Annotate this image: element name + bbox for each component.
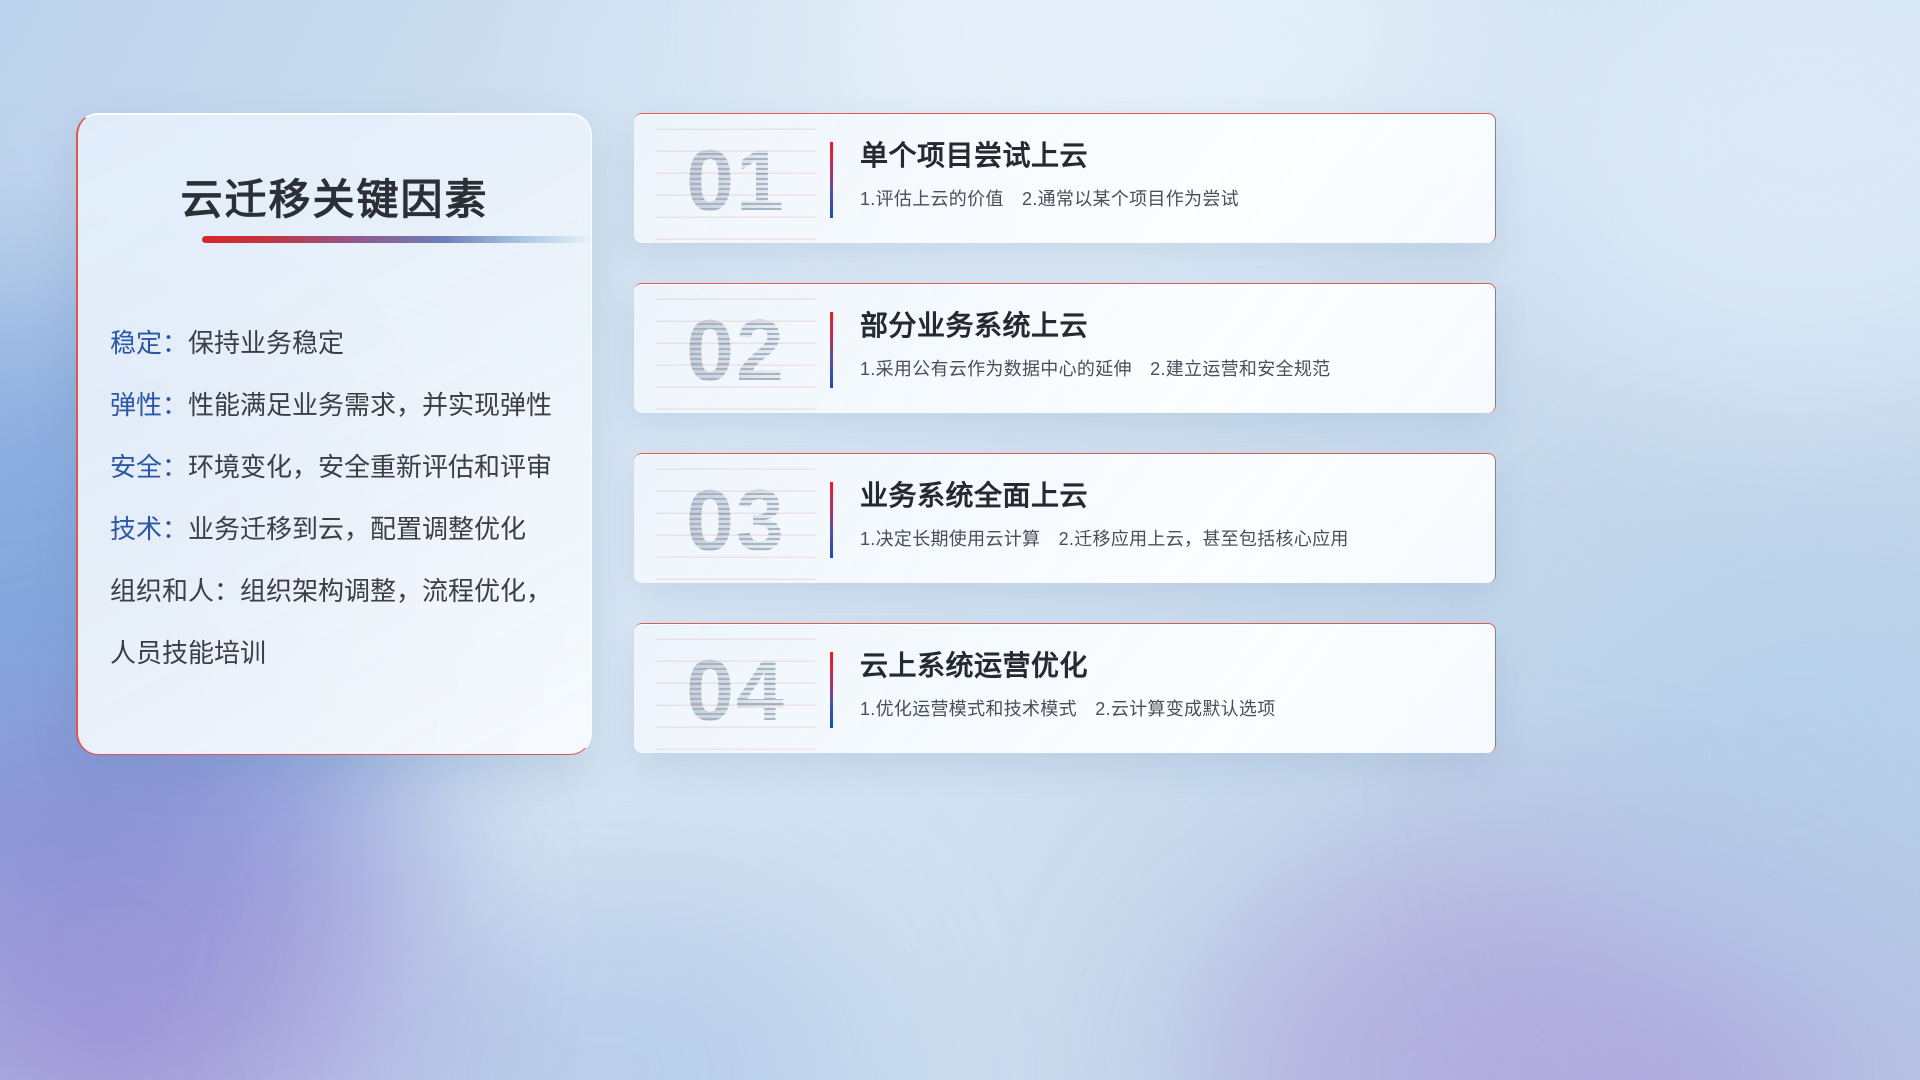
step-number-text: 01 xyxy=(656,122,816,240)
scanline-overlay-icon xyxy=(656,632,816,750)
card-accent-divider xyxy=(830,312,833,388)
step-number-watermark: 04 xyxy=(656,632,816,750)
background-blob-4 xyxy=(1180,860,1820,1080)
factor-row: 组织和人：组织架构调整，流程优化， xyxy=(110,560,571,622)
card-body: 业务系统全面上云1.决定长期使用云计算 2.迁移应用上云，甚至包括核心应用 xyxy=(860,476,1471,552)
factor-row: 人员技能培训 xyxy=(110,622,571,684)
step-number-watermark: 03 xyxy=(656,462,816,580)
card-accent-divider xyxy=(830,652,833,728)
factor-value: 业务迁移到云，配置调整优化 xyxy=(188,498,526,560)
card-body: 部分业务系统上云1.采用公有云作为数据中心的延伸 2.建立运营和安全规范 xyxy=(860,306,1471,382)
factor-label: 稳定： xyxy=(110,312,188,374)
factor-value: 保持业务稳定 xyxy=(188,312,344,374)
card-title: 云上系统运营优化 xyxy=(860,646,1471,686)
card-title: 部分业务系统上云 xyxy=(860,306,1471,346)
factor-value: 组织架构调整，流程优化， xyxy=(240,560,552,622)
step-card[interactable]: 04云上系统运营优化1.优化运营模式和技术模式 2.云计算变成默认选项 xyxy=(634,623,1496,753)
card-subtitle: 1.决定长期使用云计算 2.迁移应用上云，甚至包括核心应用 xyxy=(860,526,1471,552)
factor-value: 性能满足业务需求，并实现弹性 xyxy=(188,374,552,436)
background-blob-7 xyxy=(1560,520,1920,1040)
scanline-overlay-icon xyxy=(656,462,816,580)
card-body: 单个项目尝试上云1.评估上云的价值 2.通常以某个项目作为尝试 xyxy=(860,136,1471,212)
card-subtitle: 1.优化运营模式和技术模式 2.云计算变成默认选项 xyxy=(860,696,1471,722)
step-number-watermark: 01 xyxy=(656,122,816,240)
card-title: 单个项目尝试上云 xyxy=(860,136,1471,176)
step-number-text: 03 xyxy=(656,462,816,580)
scanline-overlay-icon xyxy=(656,122,816,240)
factor-value: 环境变化，安全重新评估和评审 xyxy=(188,436,552,498)
step-number-text: 04 xyxy=(656,632,816,750)
card-accent-divider xyxy=(830,482,833,558)
step-number-text: 02 xyxy=(656,292,816,410)
factor-label: 弹性： xyxy=(110,374,188,436)
slide-canvas: 云迁移关键因素 稳定：保持业务稳定弹性：性能满足业务需求，并实现弹性安全：环境变… xyxy=(0,0,1920,1080)
step-card[interactable]: 02部分业务系统上云1.采用公有云作为数据中心的延伸 2.建立运营和安全规范 xyxy=(634,283,1496,413)
factor-row: 稳定：保持业务稳定 xyxy=(110,312,571,374)
factor-row: 技术：业务迁移到云，配置调整优化 xyxy=(110,498,571,560)
card-subtitle: 1.采用公有云作为数据中心的延伸 2.建立运营和安全规范 xyxy=(860,356,1471,382)
card-body: 云上系统运营优化1.优化运营模式和技术模式 2.云计算变成默认选项 xyxy=(860,646,1471,722)
card-accent-divider xyxy=(830,142,833,218)
card-title: 业务系统全面上云 xyxy=(860,476,1471,516)
factor-row: 弹性：性能满足业务需求，并实现弹性 xyxy=(110,374,571,436)
panel-title: 云迁移关键因素 xyxy=(78,166,591,227)
factor-label: 技术： xyxy=(110,498,188,560)
factor-label: 组织和人： xyxy=(110,560,240,622)
title-underline-rule xyxy=(202,236,592,243)
key-factors-panel: 云迁移关键因素 稳定：保持业务稳定弹性：性能满足业务需求，并实现弹性安全：环境变… xyxy=(76,113,592,755)
card-subtitle: 1.评估上云的价值 2.通常以某个项目作为尝试 xyxy=(860,186,1471,212)
factor-label: 安全： xyxy=(110,436,188,498)
step-card[interactable]: 01单个项目尝试上云1.评估上云的价值 2.通常以某个项目作为尝试 xyxy=(634,113,1496,243)
step-number-watermark: 02 xyxy=(656,292,816,410)
background-blob-5 xyxy=(1500,0,1920,400)
factor-row: 安全：环境变化，安全重新评估和评审 xyxy=(110,436,571,498)
background-blob-2 xyxy=(0,700,400,1080)
factor-list: 稳定：保持业务稳定弹性：性能满足业务需求，并实现弹性安全：环境变化，安全重新评估… xyxy=(110,312,571,684)
step-card[interactable]: 03业务系统全面上云1.决定长期使用云计算 2.迁移应用上云，甚至包括核心应用 xyxy=(634,453,1496,583)
maturity-steps-list: 01单个项目尝试上云1.评估上云的价值 2.通常以某个项目作为尝试02部分业务系… xyxy=(634,113,1496,793)
scanline-overlay-icon xyxy=(656,292,816,410)
background-blob-3 xyxy=(340,880,860,1080)
factor-value: 人员技能培训 xyxy=(110,622,266,684)
